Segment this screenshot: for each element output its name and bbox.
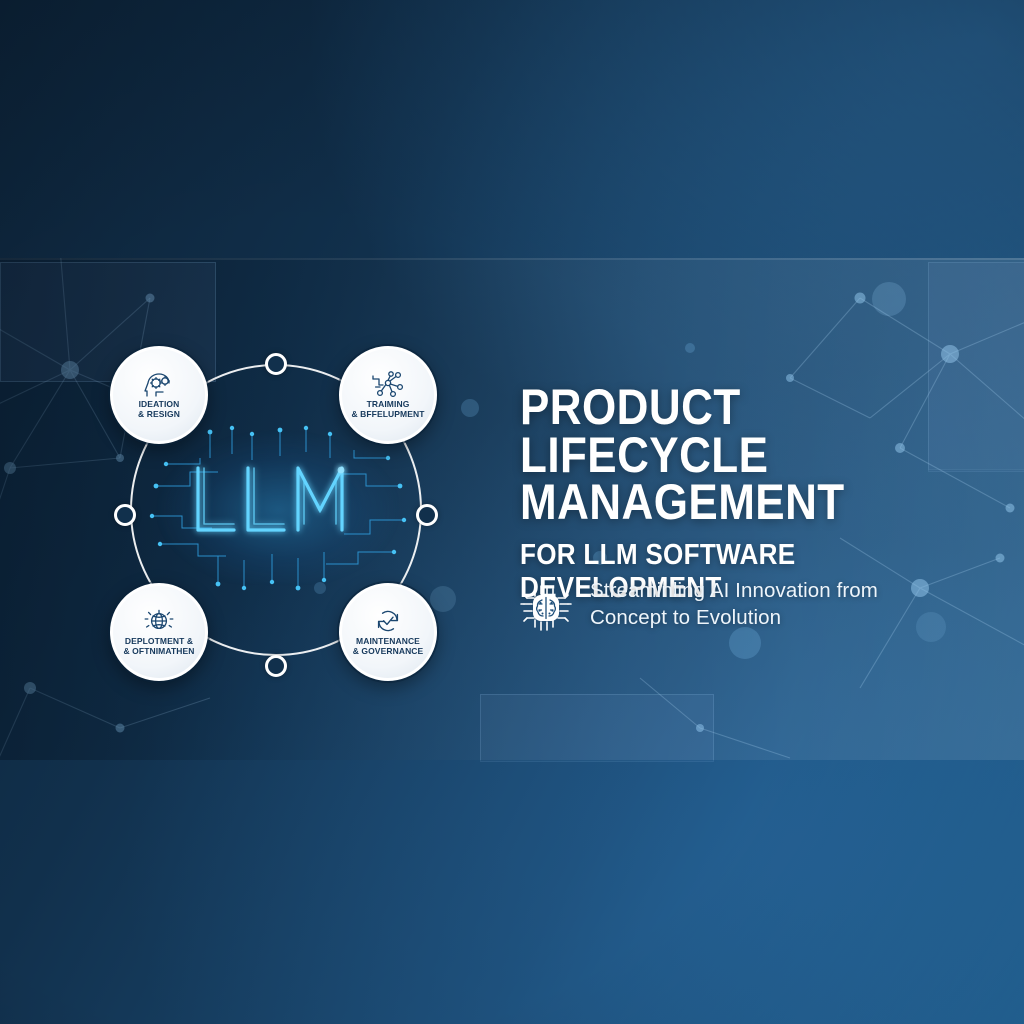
banner-canvas: IDEATION & RESIGN TRAIMING & BFFELUP (0, 0, 1024, 1024)
connector-left-icon (114, 504, 136, 526)
connector-bottom-icon (265, 655, 287, 677)
node-maintenance-governance[interactable]: MAINTENANCE & GOVERNANCE (339, 583, 437, 681)
head-with-gears-icon (142, 371, 176, 397)
node-deployment-optimization[interactable]: DEPLOTMENT & & OFTNIMATHEN (110, 583, 208, 681)
banner-decor-panel-2 (480, 694, 714, 760)
node-training-development[interactable]: TRAIMING & BFFELUPMENT (339, 346, 437, 444)
lifecycle-diagram: IDEATION & RESIGN TRAIMING & BFFELUP (96, 336, 456, 696)
connector-right-icon (416, 504, 438, 526)
banner-top-edge (0, 258, 1024, 260)
connector-top-icon (265, 353, 287, 375)
node-label: TRAIMING & BFFELUPMENT (351, 400, 424, 418)
node-label: DEPLOTMENT & & OFTNIMATHEN (123, 637, 194, 655)
llm-circuit-graphic (148, 424, 408, 592)
headline-line-2: MANAGEMENT (520, 479, 934, 527)
tagline-block: Streaminling AI Innovation from Concept … (518, 578, 968, 636)
page-title: PRODUCT LIFECYCLE MANAGEMENT (520, 384, 934, 527)
headline-line-1: PRODUCT LIFECYCLE (520, 379, 768, 483)
node-ideation-design[interactable]: IDEATION & RESIGN (110, 346, 208, 444)
globe-rays-icon (142, 608, 176, 634)
node-label: IDEATION & RESIGN (138, 400, 180, 418)
ai-brain-chip-icon (518, 580, 574, 636)
node-label: MAINTENANCE & GOVERNANCE (353, 637, 424, 655)
refresh-check-icon (371, 608, 405, 634)
neural-network-nodes-icon (371, 371, 405, 397)
headline-block: PRODUCT LIFECYCLE MANAGEMENT FOR LLM SOF… (520, 384, 990, 605)
tagline-text: Streaminling AI Innovation from Concept … (590, 578, 878, 631)
